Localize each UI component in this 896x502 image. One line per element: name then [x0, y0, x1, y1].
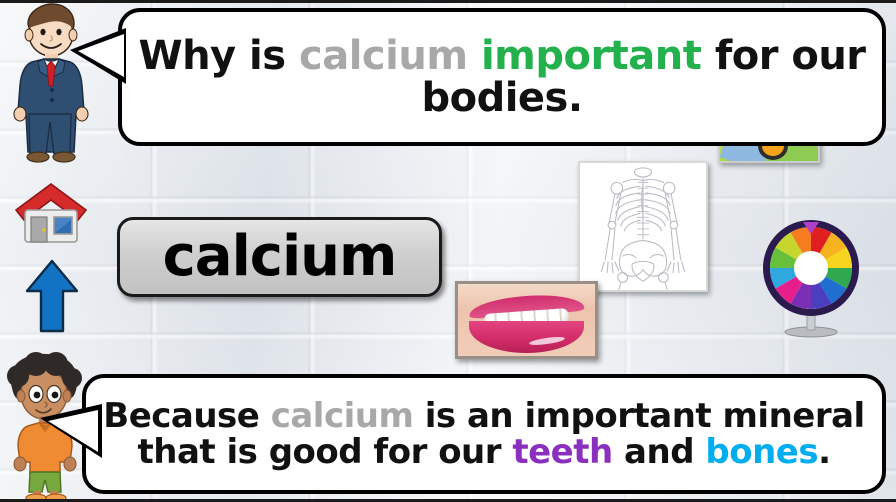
answer-seg-6: .: [818, 432, 830, 472]
lower-lip: [469, 321, 584, 353]
question-text: Why is calcium important for our bodies.: [122, 35, 882, 120]
answer-seg-4: and: [613, 432, 706, 472]
home-icon[interactable]: [12, 180, 90, 248]
question-seg-3: important: [481, 33, 701, 79]
question-seg-0: Why is: [138, 33, 299, 79]
answer-seg-1: calcium: [271, 396, 414, 436]
slide-top-border: [0, 0, 896, 3]
answer-seg-0: Because: [103, 396, 270, 436]
lesson-slide: Why is calcium important for our bodies.: [0, 0, 896, 502]
answer-speech-bubble: Because calcium is an important mineral …: [82, 374, 886, 494]
answer-bubble-tail-fill: [48, 410, 98, 452]
answer-text: Because calcium is an important mineral …: [86, 398, 882, 470]
teeth-picture[interactable]: [455, 281, 598, 359]
question-bubble-tail-fill: [78, 34, 124, 77]
up-arrow-icon[interactable]: [24, 258, 80, 334]
answer-seg-3: teeth: [512, 432, 612, 472]
skeleton-picture[interactable]: [578, 161, 708, 292]
word-card-calcium[interactable]: calcium: [117, 217, 442, 297]
question-speech-bubble: Why is calcium important for our bodies.: [118, 8, 886, 146]
mouth-illustration: [458, 284, 595, 356]
word-card-label: calcium: [163, 229, 397, 285]
spinner-wheel-icon[interactable]: [755, 218, 867, 338]
question-seg-2: [468, 33, 481, 79]
question-seg-1: calcium: [299, 33, 468, 79]
answer-seg-5: bones: [705, 432, 818, 472]
